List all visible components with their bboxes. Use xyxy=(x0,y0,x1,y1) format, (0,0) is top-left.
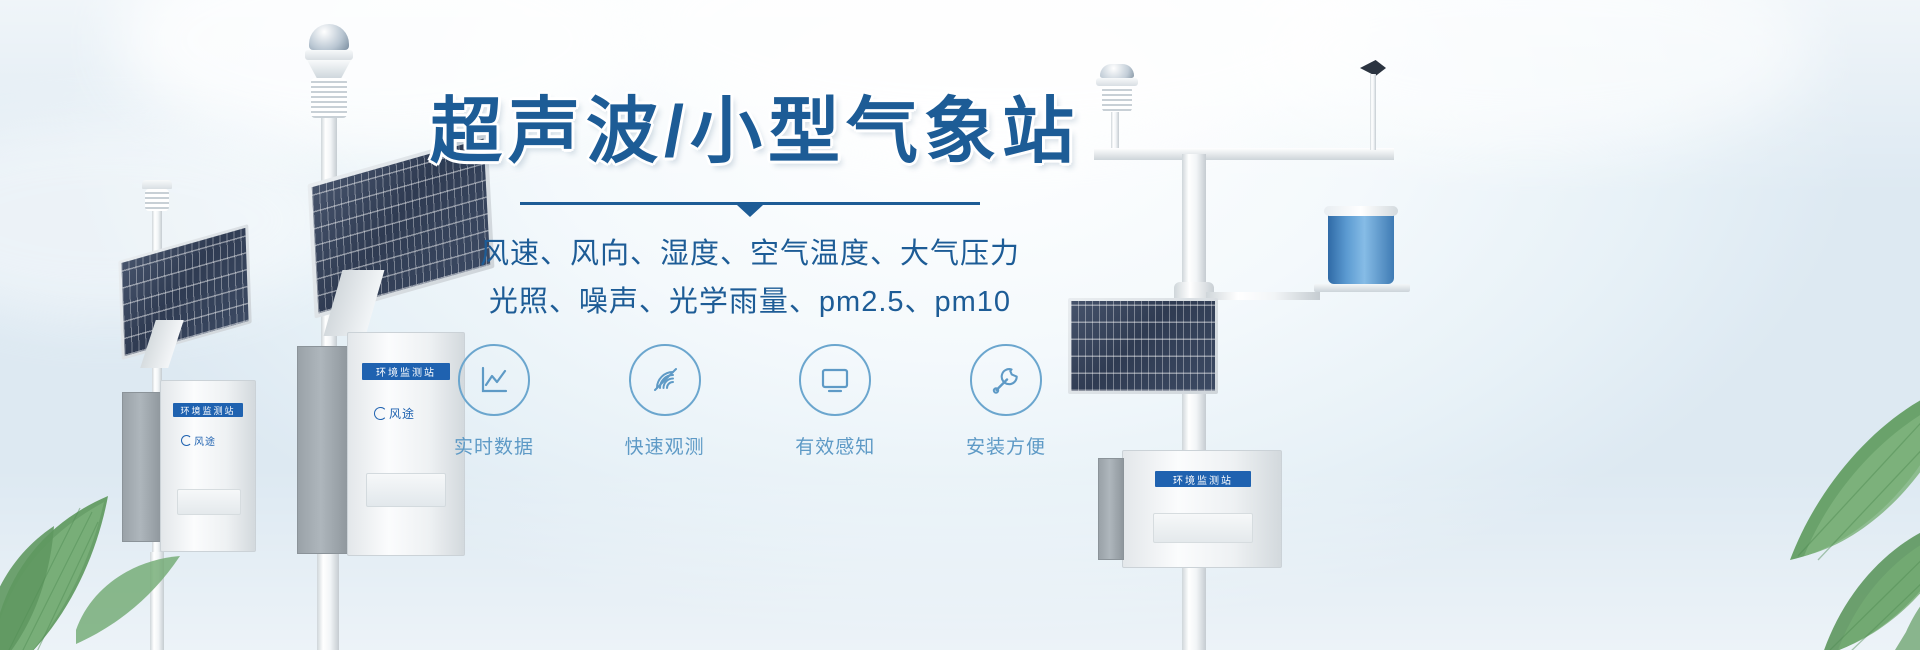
feature-item-fast-observation[interactable]: 快速观测 xyxy=(603,344,727,459)
sensor-head-icon xyxy=(142,180,172,189)
brand-mark-icon xyxy=(374,407,387,420)
banner-stage: 环境监测站 风途 环境监测站 风 xyxy=(0,0,1920,650)
ultrasonic-sensor-icon xyxy=(309,24,349,50)
device-station-right: 环境监测站 xyxy=(1070,50,1490,650)
mast-pole xyxy=(1182,154,1206,650)
bucket-rim xyxy=(1324,206,1398,216)
page-title: 超声波/小型气象站 xyxy=(430,96,1070,168)
enclosure-vent xyxy=(366,473,446,507)
vane-stem xyxy=(1370,74,1376,150)
line-chart-icon xyxy=(474,360,514,400)
feature-item-easy-install[interactable]: 安装方便 xyxy=(944,344,1068,459)
shelf-arm xyxy=(1206,292,1320,300)
feature-icon-ring xyxy=(629,344,701,416)
bucket-shelf xyxy=(1314,284,1410,292)
enclosure-vent xyxy=(1153,513,1253,543)
radiation-shield-icon xyxy=(311,78,347,118)
solar-panel xyxy=(1068,298,1218,394)
banner-text-block: 超声波/小型气象站 风速、风向、湿度、空气温度、大气压力 光照、噪声、光学雨量、… xyxy=(430,96,1070,324)
station-tag-label: 环境监测站 xyxy=(173,403,243,417)
feature-label: 快速观测 xyxy=(603,432,727,459)
leaf-decoration-left xyxy=(0,430,200,650)
divider-triangle-icon xyxy=(737,205,763,217)
title-divider xyxy=(520,202,980,216)
subtitle-line-2: 光照、噪声、光学雨量、pm2.5、pm10 xyxy=(430,280,1070,324)
signal-wave-icon xyxy=(645,360,685,400)
lower-mast xyxy=(317,554,339,650)
radiation-shield-icon xyxy=(145,189,169,211)
feature-label: 有效感知 xyxy=(773,432,897,459)
rain-gauge-bucket xyxy=(1328,210,1394,284)
monitor-icon xyxy=(815,360,855,400)
cross-arm xyxy=(1094,148,1394,160)
feature-item-realtime-data[interactable]: 实时数据 xyxy=(432,344,556,459)
feature-item-effective-sensing[interactable]: 有效感知 xyxy=(773,344,897,459)
feature-icon-ring xyxy=(970,344,1042,416)
sensor-collar xyxy=(1096,78,1138,86)
station-tag-label: 环境监测站 xyxy=(1155,471,1251,487)
feature-icon-ring xyxy=(799,344,871,416)
feature-label: 安装方便 xyxy=(944,432,1068,459)
rain-gauge-cone xyxy=(307,60,351,78)
leaf-decoration-right xyxy=(1670,370,1920,650)
wrench-icon xyxy=(986,360,1026,400)
enclosure-side xyxy=(1098,458,1124,560)
enclosure-back xyxy=(297,346,349,554)
feature-list: 实时数据 快速观测 有效感知 xyxy=(432,344,1068,459)
sensor-collar xyxy=(305,50,353,60)
radiation-shield-icon xyxy=(1102,86,1132,112)
enclosure-front: 环境监测站 xyxy=(1122,450,1282,568)
feature-icon-ring xyxy=(458,344,530,416)
brand-logo: 风途 xyxy=(374,405,415,422)
subtitle-line-1: 风速、风向、湿度、空气温度、大气压力 xyxy=(430,232,1070,276)
feature-label: 实时数据 xyxy=(432,432,556,459)
solar-panel xyxy=(118,224,251,360)
ultrasonic-anemometer-icon xyxy=(1100,64,1134,78)
brand-name: 风途 xyxy=(389,405,415,422)
